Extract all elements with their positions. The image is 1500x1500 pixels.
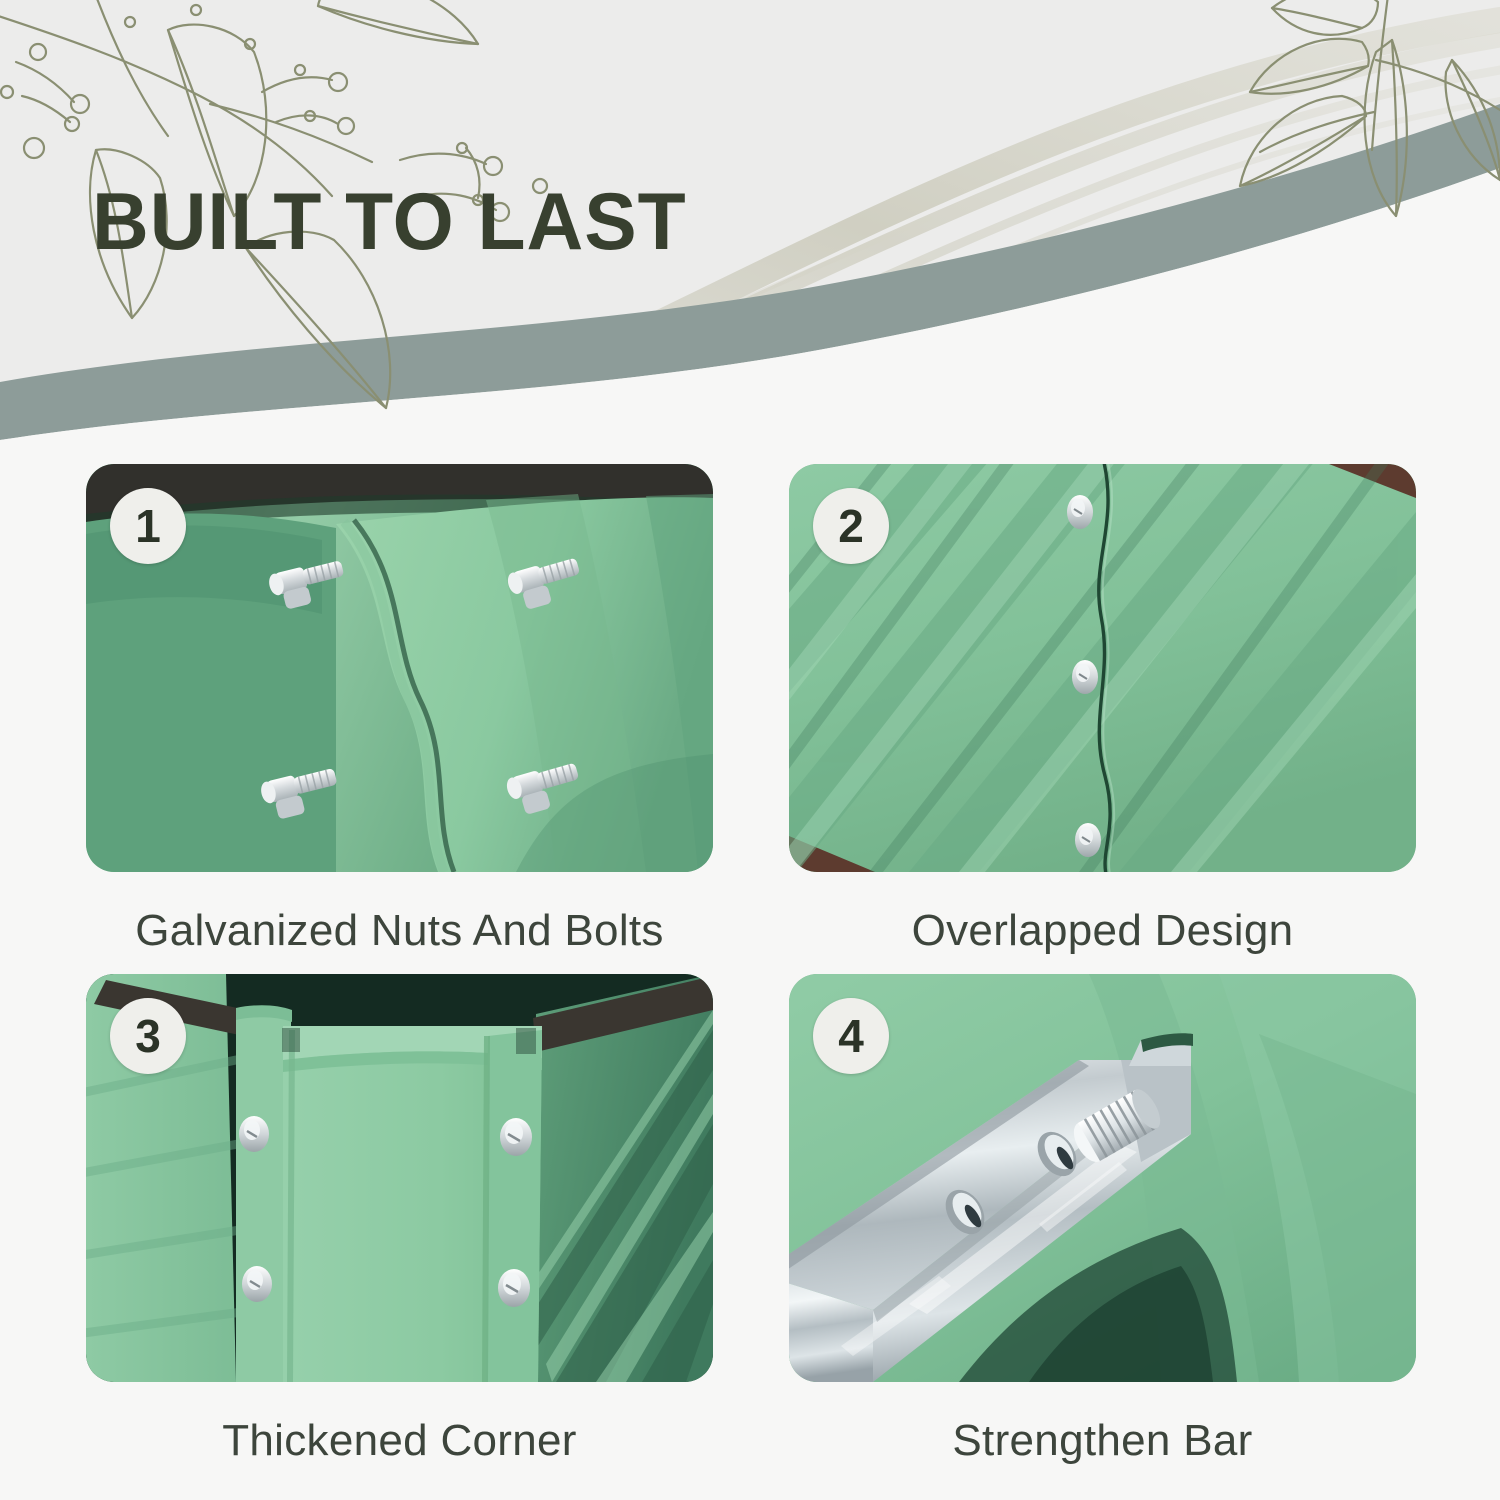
feature-number-badge: 2 (813, 488, 889, 564)
feature-card-4[interactable]: 4 Strengthen Bar (789, 974, 1416, 1466)
feature-number-badge: 3 (110, 998, 186, 1074)
feature-number-badge: 1 (110, 488, 186, 564)
feature-card-3[interactable]: 3 Thickened Corner (86, 974, 713, 1466)
feature-caption: Galvanized Nuts And Bolts (86, 906, 713, 956)
overlapped-design-photo: 2 (789, 464, 1416, 872)
feature-caption: Strengthen Bar (789, 1416, 1416, 1466)
galvanized-nuts-and-bolts-photo: 1 (86, 464, 713, 872)
feature-card-2[interactable]: 2 Overlapped Design (789, 464, 1416, 956)
feature-number-badge: 4 (813, 998, 889, 1074)
feature-grid: 1 Galvanized Nuts And Bolts (0, 440, 1500, 1500)
feature-caption: Overlapped Design (789, 906, 1416, 956)
thickened-corner-photo: 3 (86, 974, 713, 1382)
header-banner: BUILT TO LAST (0, 0, 1500, 440)
strengthen-bar-photo: 4 (789, 974, 1416, 1382)
feature-card-1[interactable]: 1 Galvanized Nuts And Bolts (86, 464, 713, 956)
page-title: BUILT TO LAST (92, 182, 687, 263)
feature-caption: Thickened Corner (86, 1416, 713, 1466)
